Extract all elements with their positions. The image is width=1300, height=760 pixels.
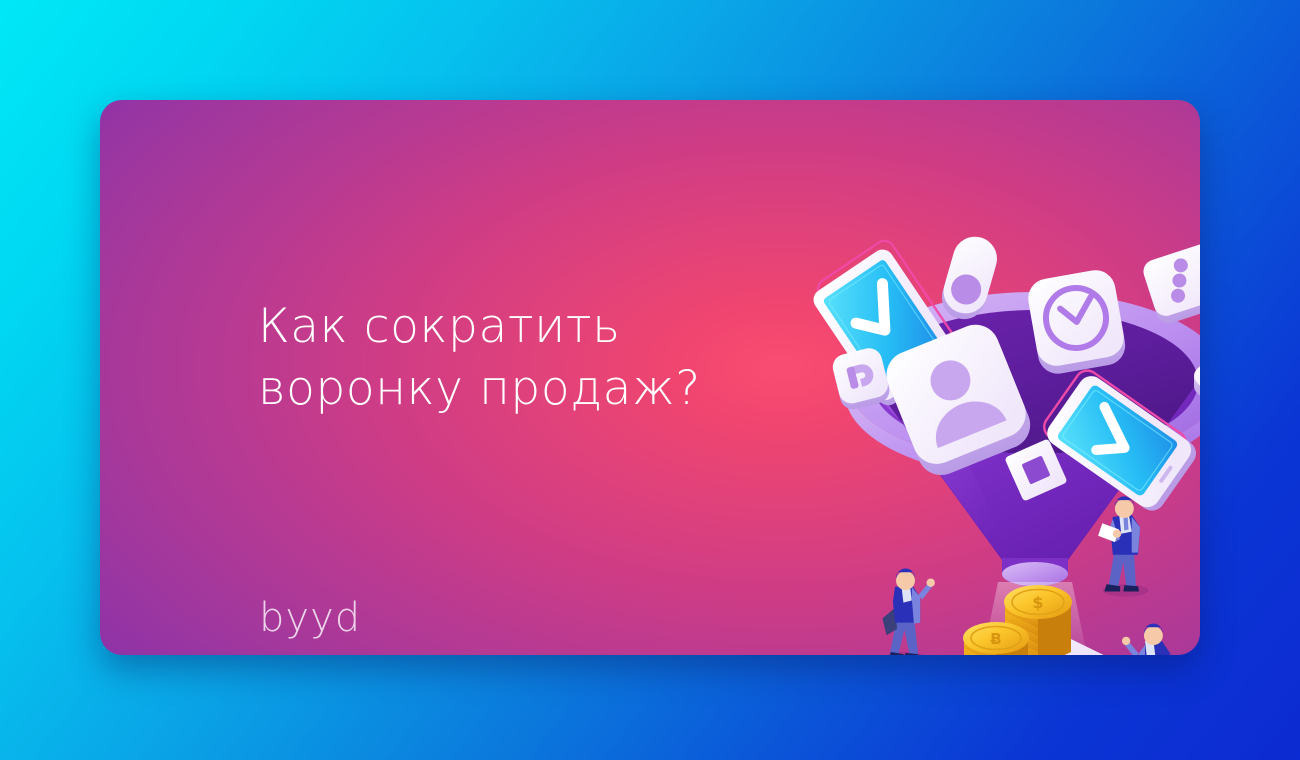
coin-symbol-dollar: $: [1032, 593, 1043, 612]
head: [1144, 626, 1163, 645]
coin-stack-bitcoin: Ƀ: [963, 622, 1029, 655]
hand: [1122, 637, 1130, 645]
banner-card: Как сократить воронку продаж? byyd: [100, 100, 1200, 655]
sales-funnel-illustration: $: [800, 230, 1200, 655]
head: [1115, 499, 1134, 518]
head: [896, 571, 915, 590]
hand: [927, 579, 935, 587]
person-bottom-right: [1122, 624, 1179, 655]
person-left: [882, 569, 935, 655]
coin-symbol-bitcoin: Ƀ: [990, 630, 1001, 648]
brand-logo: byyd: [259, 598, 361, 638]
clock-icon: [1025, 267, 1128, 377]
person-top-right: [1098, 496, 1148, 596]
arm-right: [1132, 517, 1140, 553]
screenshot-stage: Как сократить воронку продаж? byyd: [0, 0, 1300, 760]
page-title: Как сократить воронку продаж?: [258, 296, 778, 420]
